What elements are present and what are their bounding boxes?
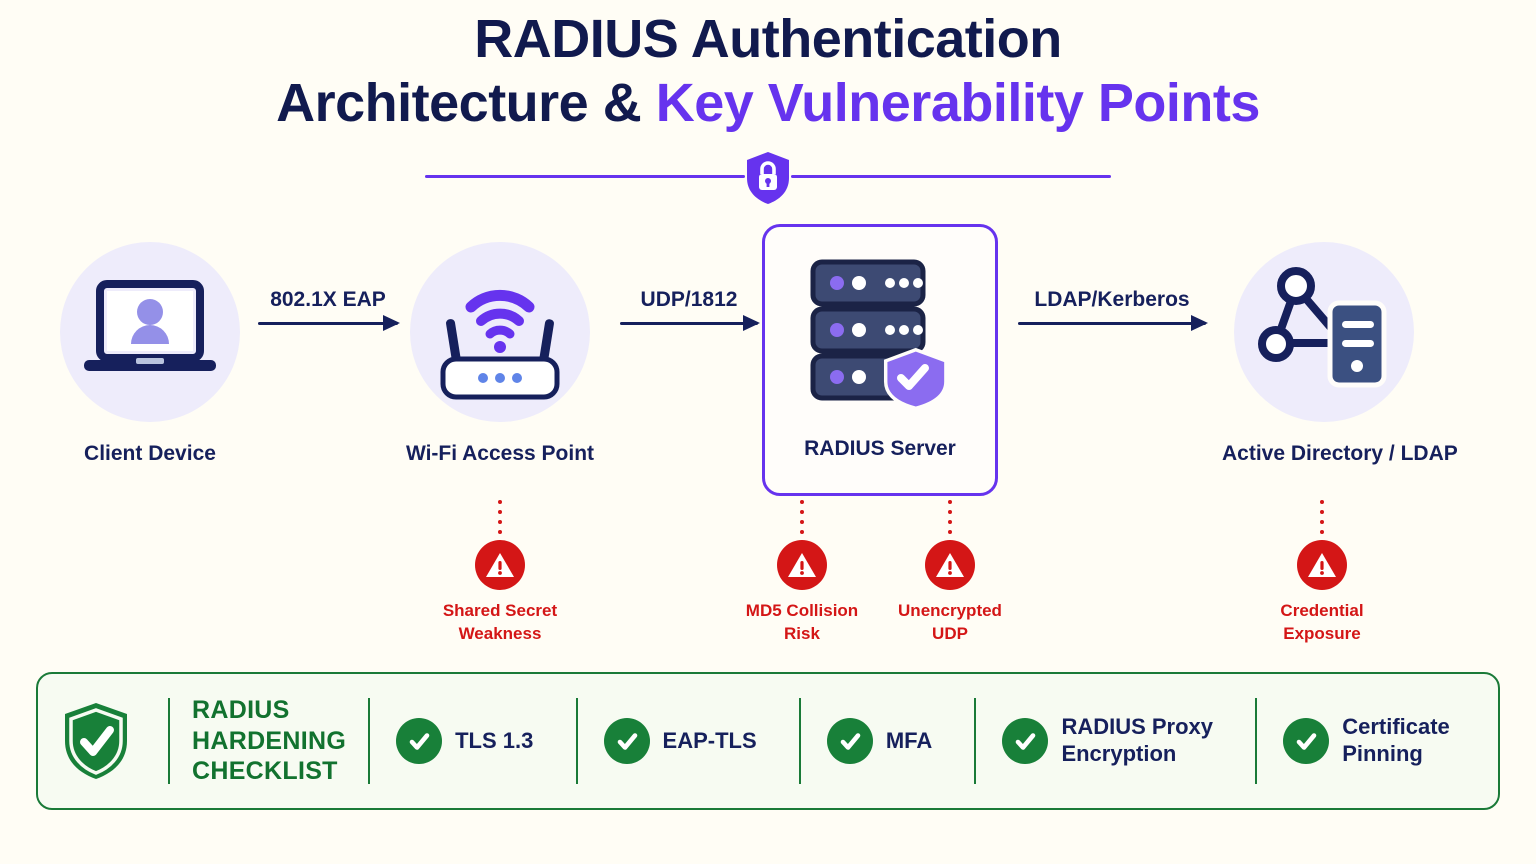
dotted-connector bbox=[1237, 498, 1407, 540]
directory-server-icon bbox=[1254, 267, 1394, 397]
arrow-right-icon bbox=[620, 322, 758, 325]
checklist-item-label: TLS 1.3 bbox=[455, 728, 533, 755]
laptop-user-icon bbox=[84, 280, 216, 384]
vulnerability-label-line-2: Exposure bbox=[1237, 623, 1407, 646]
arrow-right-icon bbox=[258, 322, 398, 325]
checklist-item-label-line-1: Certificate bbox=[1342, 714, 1450, 741]
vulnerability-label-line-1: Shared Secret bbox=[415, 600, 585, 623]
title-divider bbox=[0, 150, 1536, 202]
client-device-circle bbox=[60, 242, 240, 422]
wifi-access-point-circle bbox=[410, 242, 590, 422]
checklist-title-line-3: CHECKLIST bbox=[192, 756, 346, 787]
checklist-item-radius-proxy-encryption[interactable]: RADIUS Proxy Encryption bbox=[992, 714, 1239, 768]
warning-triangle-icon bbox=[1297, 540, 1347, 590]
active-directory-circle bbox=[1234, 242, 1414, 422]
warning-triangle-icon bbox=[777, 540, 827, 590]
flow-node-label: Wi-Fi Access Point bbox=[400, 442, 600, 466]
connector-label: 802.1X EAP bbox=[258, 288, 398, 312]
checklist-item-label: RADIUS Proxy Encryption bbox=[1061, 714, 1213, 768]
architecture-flow: Client Device 802.1X EAP Wi-Fi Access Po… bbox=[0, 228, 1536, 498]
checklist-divider bbox=[168, 698, 170, 784]
checklist-item-label: MFA bbox=[886, 728, 932, 755]
vulnerability-label-line-2: Risk bbox=[717, 623, 887, 646]
flow-node-active-directory-ldap[interactable]: Active Directory / LDAP bbox=[1222, 242, 1426, 466]
checklist-divider bbox=[576, 698, 578, 784]
vulnerability-label: Credential Exposure bbox=[1237, 600, 1407, 646]
flow-node-radius-server[interactable]: RADIUS Server bbox=[762, 224, 998, 496]
title-line-2-accent: Key Vulnerability Points bbox=[656, 73, 1260, 133]
connector-client-to-ap: 802.1X EAP bbox=[258, 288, 398, 325]
connector-label: LDAP/Kerberos bbox=[1018, 288, 1206, 312]
title-line-2: Architecture & Key Vulnerability Points bbox=[0, 72, 1536, 136]
vulnerability-label-line-1: Credential bbox=[1237, 600, 1407, 623]
checklist-item-label-line-2: Pinning bbox=[1342, 741, 1450, 768]
checklist-divider bbox=[974, 698, 976, 784]
flow-node-label: Active Directory / LDAP bbox=[1222, 442, 1426, 466]
checklist-divider bbox=[799, 698, 801, 784]
checklist-item-tls-13[interactable]: TLS 1.3 bbox=[386, 718, 559, 764]
flow-node-label: RADIUS Server bbox=[765, 437, 995, 461]
connector-label: UDP/1812 bbox=[620, 288, 758, 312]
dotted-connector bbox=[717, 498, 887, 540]
divider-rule-right bbox=[791, 175, 1111, 178]
vulnerability-unencrypted-udp[interactable]: Unencrypted UDP bbox=[865, 498, 1035, 646]
checklist-divider bbox=[1255, 698, 1257, 784]
checklist-item-label: Certificate Pinning bbox=[1342, 714, 1450, 768]
checklist-title-line-1: RADIUS bbox=[192, 695, 346, 726]
check-circle-icon bbox=[604, 718, 650, 764]
server-rack-shield-icon bbox=[805, 256, 955, 414]
vulnerability-shared-secret-weakness[interactable]: Shared Secret Weakness bbox=[415, 498, 585, 646]
radius-server-art bbox=[765, 227, 995, 435]
shield-check-icon bbox=[60, 700, 152, 782]
title-line-1: RADIUS Authentication bbox=[0, 8, 1536, 72]
flow-node-label: Client Device bbox=[50, 442, 250, 466]
connector-ap-to-radius: UDP/1812 bbox=[620, 288, 758, 325]
vulnerability-label-line-1: Unencrypted bbox=[865, 600, 1035, 623]
vulnerability-label-line-2: Weakness bbox=[415, 623, 585, 646]
check-circle-icon bbox=[1002, 718, 1048, 764]
vulnerability-label-line-2: UDP bbox=[865, 623, 1035, 646]
vulnerability-md5-collision-risk[interactable]: MD5 Collision Risk bbox=[717, 498, 887, 646]
checklist-item-label: EAP-TLS bbox=[663, 728, 757, 755]
checklist-item-label-line-1: EAP-TLS bbox=[663, 728, 757, 755]
checklist-item-label-line-2: Encryption bbox=[1061, 741, 1213, 768]
check-circle-icon bbox=[396, 718, 442, 764]
warning-triangle-icon bbox=[925, 540, 975, 590]
vulnerability-label: Unencrypted UDP bbox=[865, 600, 1035, 646]
dotted-connector bbox=[415, 498, 585, 540]
checklist-item-label-line-1: RADIUS Proxy bbox=[1061, 714, 1213, 741]
checklist-title-line-2: HARDENING bbox=[192, 726, 346, 757]
divider-rule-left bbox=[425, 175, 745, 178]
connector-radius-to-directory: LDAP/Kerberos bbox=[1018, 288, 1206, 325]
vulnerability-markers: Shared Secret Weakness MD5 Collision Ris… bbox=[0, 498, 1536, 653]
flow-node-client-device[interactable]: Client Device bbox=[50, 242, 250, 466]
vulnerability-label-line-1: MD5 Collision bbox=[717, 600, 887, 623]
warning-triangle-icon bbox=[475, 540, 525, 590]
flow-node-wifi-access-point[interactable]: Wi-Fi Access Point bbox=[400, 242, 600, 466]
check-circle-icon bbox=[827, 718, 873, 764]
checklist-divider bbox=[368, 698, 370, 784]
checklist-item-certificate-pinning[interactable]: Certificate Pinning bbox=[1273, 714, 1476, 768]
checklist-item-label-line-1: MFA bbox=[886, 728, 932, 755]
dotted-connector bbox=[865, 498, 1035, 540]
checklist-item-mfa[interactable]: MFA bbox=[817, 718, 959, 764]
checklist-item-eap-tls[interactable]: EAP-TLS bbox=[594, 718, 783, 764]
title-line-2-primary: Architecture & bbox=[276, 73, 656, 133]
wifi-router-icon bbox=[425, 263, 575, 401]
checklist-item-label-line-1: TLS 1.3 bbox=[455, 728, 533, 755]
vulnerability-credential-exposure[interactable]: Credential Exposure bbox=[1237, 498, 1407, 646]
checklist-title: RADIUS HARDENING CHECKLIST bbox=[186, 695, 352, 787]
check-circle-icon bbox=[1283, 718, 1329, 764]
shield-lock-icon bbox=[743, 150, 793, 206]
vulnerability-label: MD5 Collision Risk bbox=[717, 600, 887, 646]
page-title: RADIUS Authentication Architecture & Key… bbox=[0, 8, 1536, 135]
vulnerability-label: Shared Secret Weakness bbox=[415, 600, 585, 646]
arrow-right-icon bbox=[1018, 322, 1206, 325]
radius-hardening-checklist: RADIUS HARDENING CHECKLIST TLS 1.3 EAP-T… bbox=[36, 672, 1500, 810]
